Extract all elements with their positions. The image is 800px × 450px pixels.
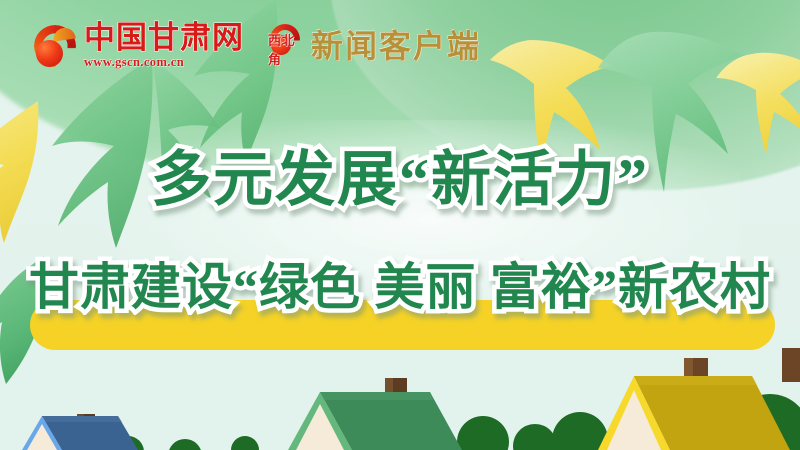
village-rooftops-illustration xyxy=(0,330,800,450)
house-yellow xyxy=(598,358,790,450)
app-name: 新闻客户端 xyxy=(311,30,481,62)
house-green xyxy=(288,378,462,450)
xibeijiao-mark-text: 西北角 xyxy=(268,30,304,68)
gansu-net-swirl-logo-icon xyxy=(34,25,76,67)
title-line-1: 多元发展“新活力” 多元发展“新活力” xyxy=(0,150,800,224)
site-name: 中国甘肃网 xyxy=(84,22,244,53)
poster-title: 多元发展“新活力” 多元发展“新活力” 甘肃建设“绿色 美丽 富裕”新农村 甘肃… xyxy=(0,150,800,336)
title-line-2: 甘肃建设“绿色 美丽 富裕”新农村 甘肃建设“绿色 美丽 富裕”新农村 xyxy=(0,262,800,336)
xibeijiao-swirl-logo-icon: 西北角 xyxy=(268,24,304,68)
brand-header: 中国甘肃网 www.gscn.com.cn 西北角 新闻客户端 xyxy=(0,0,800,92)
house-blue xyxy=(22,414,138,450)
brand-xibeijiao-app[interactable]: 西北角 新闻客户端 xyxy=(268,24,481,68)
house-far-right xyxy=(782,348,800,382)
poster-canvas: 中国甘肃网 www.gscn.com.cn 西北角 新闻客户端 多元发展“新活力… xyxy=(0,0,800,450)
site-url: www.gscn.com.cn xyxy=(84,55,184,70)
title-line-1-text: 多元发展“新活力” xyxy=(0,150,800,210)
brand-gansu-net[interactable]: 中国甘肃网 www.gscn.com.cn xyxy=(34,22,244,70)
title-line-2-text: 甘肃建设“绿色 美丽 富裕”新农村 xyxy=(0,262,800,312)
